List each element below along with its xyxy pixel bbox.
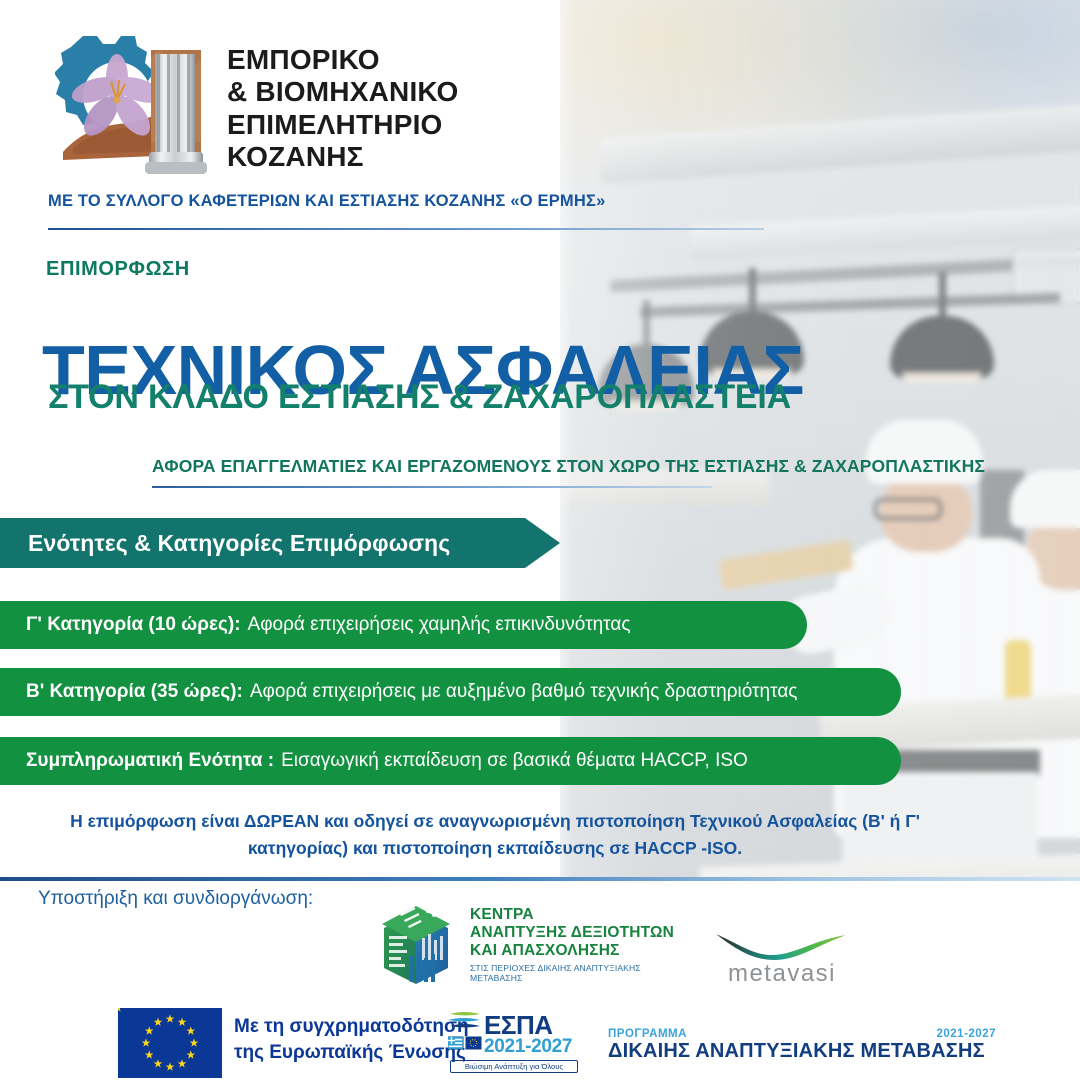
eu-cofunding-text: Με τη συγχρηματοδότηση της Ευρωπαϊκής Έν… bbox=[234, 1014, 469, 1066]
kozani-chamber-logo-icon bbox=[55, 24, 220, 184]
espa-flag-pair-icon bbox=[448, 1036, 482, 1051]
programme-block: ΠΡΟΓΡΑΜΜΑ ΔΙΚΑΙΗΣ ΑΝΑΠΤΥΞΙΑΚΗΣ ΜΕΤΑΒΑΣΗΣ… bbox=[608, 1028, 1008, 1063]
espa-swoosh-icon bbox=[448, 1010, 482, 1034]
keda-logo-text: ΚΕΝΤΡΑ ΑΝΑΠΤΥΞΗΣ ΔΕΞΙΟΤΗΤΩΝ ΚΑΙ ΑΠΑΣΧΟΛΗ… bbox=[470, 906, 692, 983]
keda-tagline: ΣΤΙΣ ΠΕΡΙΟΧΕΣ ΔΙΚΑΙΗΣ ΑΝΑΠΤΥΞΙΑΚΗΣ ΜΕΤΑΒ… bbox=[470, 960, 692, 983]
note-paragraph: Η επιμόρφωση είναι ΔΩΡΕΑΝ και οδηγεί σε … bbox=[60, 808, 930, 862]
keda-line-3: ΚΑΙ ΑΠΑΣΧΟΛΗΣΗΣ bbox=[470, 942, 692, 960]
chamber-logo-text: ΕΜΠΟΡΙΚΟ & ΒΙΟΜΗΧΑΝΙΚΟ ΕΠΙΜΕΛΗΤΗΡΙΟ ΚΟΖΑ… bbox=[227, 44, 527, 174]
audience-line: ΑΦΟΡΑ ΕΠΑΓΓΕΛΜΑΤΙΕΣ ΚΑΙ ΕΡΓΑΖΟΜΕΝΟΥΣ ΣΤΟ… bbox=[152, 456, 985, 477]
category-bar-1: Γ' Κατηγορία (10 ώρες): Αφορά επιχειρήσε… bbox=[0, 601, 807, 649]
category-1-desc: Αφορά επιχειρήσεις χαμηλής επικινδυνότητ… bbox=[241, 614, 631, 636]
programme-years: 2021-2027 bbox=[937, 1028, 997, 1040]
metavasi-wordmark: metavasi bbox=[712, 960, 852, 988]
eu-text-line-1: Με τη συγχρηματοδότηση bbox=[234, 1014, 469, 1040]
category-2-title: Β' Κατηγορία (35 ώρες): bbox=[26, 681, 243, 703]
category-3-title: Συμπληρωματική Ενότητα : bbox=[26, 750, 274, 772]
eyebrow-label: ΕΠΙΜΟΡΦΩΣΗ bbox=[46, 258, 190, 281]
section-banner-label: Ενότητες & Κατηγορίες Επιμόρφωσης bbox=[0, 530, 450, 557]
section-banner: Ενότητες & Κατηγορίες Επιμόρφωσης bbox=[0, 518, 560, 568]
metavasi-wave-logo-icon bbox=[712, 930, 852, 960]
eu-flag-icon bbox=[118, 1008, 222, 1078]
espa-logo: ΕΣΠΑ 2021-2027 Βιώσιμη Ανάπτυξη για Όλου… bbox=[448, 1010, 578, 1072]
keda-line-2: ΑΝΑΠΤΥΞΗΣ ΔΕΞΙΟΤΗΤΩΝ bbox=[470, 924, 692, 942]
category-3-desc: Εισαγωγική εκπαίδευση σε βασικά θέματα H… bbox=[274, 750, 748, 772]
chamber-logo-block: ΕΜΠΟΡΙΚΟ & ΒΙΟΜΗΧΑΝΙΚΟ ΕΠΙΜΕΛΗΤΗΡΙΟ ΚΟΖΑ… bbox=[55, 24, 525, 184]
org-name-line-3: ΕΠΙΜΕΛΗΤΗΡΙΟ bbox=[227, 109, 527, 141]
category-1-title: Γ' Κατηγορία (10 ώρες): bbox=[26, 614, 241, 636]
partner-line: ΜΕ ΤΟ ΣΥΛΛΟΓΟ ΚΑΦΕΤΕΡΙΩΝ ΚΑΙ ΕΣΤΙΑΣΗΣ ΚΟ… bbox=[48, 192, 748, 211]
category-bar-2: Β' Κατηγορία (35 ώρες): Αφορά επιχειρήσε… bbox=[0, 668, 901, 716]
org-name-line-2: & ΒΙΟΜΗΧΑΝΙΚΟ bbox=[227, 76, 527, 108]
espa-years: 2021-2027 bbox=[484, 1036, 572, 1058]
category-2-desc: Αφορά επιχειρήσεις με αυξημένο βαθμό τεχ… bbox=[243, 681, 798, 703]
header-divider-rule bbox=[48, 228, 764, 230]
org-name-line-4: ΚΟΖΑΝΗΣ bbox=[227, 141, 527, 173]
audience-divider-rule bbox=[152, 486, 712, 488]
eu-text-line-2: της Ευρωπαϊκής Ένωσης bbox=[234, 1040, 469, 1066]
support-label: Υποστήριξη και συνδιοργάνωση: bbox=[38, 888, 313, 910]
programme-title: ΔΙΚΑΙΗΣ ΑΝΑΠΤΥΞΙΑΚΗΣ ΜΕΤΑΒΑΣΗΣ bbox=[608, 1040, 1008, 1063]
keda-building-logo-icon bbox=[370, 898, 462, 986]
category-bar-3: Συμπληρωματική Ενότητα : Εισαγωγική εκπα… bbox=[0, 737, 901, 785]
org-name-line-1: ΕΜΠΟΡΙΚΟ bbox=[227, 44, 527, 76]
poster-canvas: ΕΜΠΟΡΙΚΟ & ΒΙΟΜΗΧΑΝΙΚΟ ΕΠΙΜΕΛΗΤΗΡΙΟ ΚΟΖΑ… bbox=[0, 0, 1080, 1080]
espa-tagline: Βιώσιμη Ανάπτυξη για Όλους bbox=[450, 1060, 578, 1073]
metavasi-logo: metavasi bbox=[712, 930, 852, 988]
keda-logo: ΚΕΝΤΡΑ ΑΝΑΠΤΥΞΗΣ ΔΕΞΙΟΤΗΤΩΝ ΚΑΙ ΑΠΑΣΧΟΛΗ… bbox=[370, 898, 690, 986]
page-subtitle: ΣΤΟΝ ΚΛΑΔΟ ΕΣΤΙΑΣΗΣ & ΖΑΧΑΡΟΠΛΑΣΤΕΙΑ bbox=[48, 378, 791, 417]
keda-line-1: ΚΕΝΤΡΑ bbox=[470, 906, 692, 924]
